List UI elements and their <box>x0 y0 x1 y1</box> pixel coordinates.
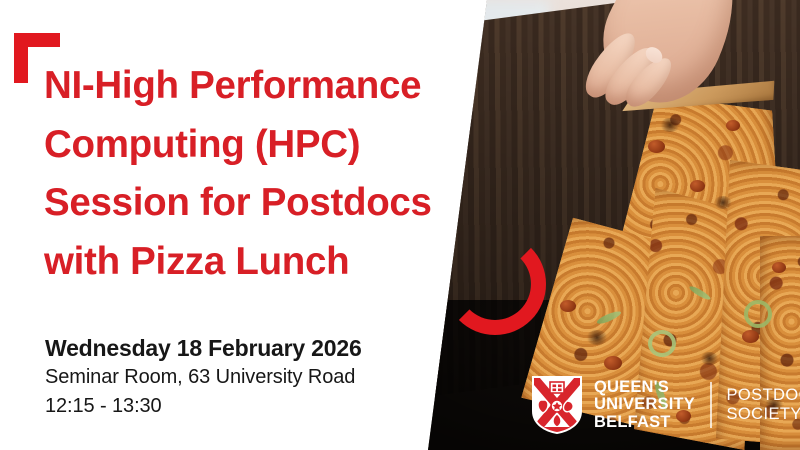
queens-crest-icon <box>531 375 583 435</box>
event-details: Wednesday 18 February 2026 Seminar Room,… <box>45 333 445 421</box>
pepperoni-topping <box>742 330 759 343</box>
charred-spot <box>660 118 680 132</box>
postdoc-society-wordmark: POSTDOC SOCIETY <box>727 386 800 425</box>
charred-spot <box>586 330 608 345</box>
pepperoni-topping <box>560 300 576 312</box>
university-line-1: QUEEN'S <box>594 379 695 397</box>
society-line-2: SOCIETY <box>727 405 800 425</box>
pepperoni-topping <box>648 140 665 153</box>
university-line-3: BELFAST <box>594 414 695 432</box>
university-line-2: UNIVERSITY <box>594 396 695 414</box>
university-wordmark: QUEEN'S UNIVERSITY BELFAST <box>594 379 695 432</box>
society-line-1: POSTDOC <box>727 386 800 406</box>
charred-spot <box>700 352 719 365</box>
event-date: Wednesday 18 February 2026 <box>45 333 445 363</box>
herb-topping <box>648 330 676 357</box>
red-quarter-arc-icon <box>444 233 546 335</box>
event-poster: NI-High Performance Computing (HPC) Sess… <box>0 0 800 450</box>
logo-divider <box>710 382 712 428</box>
pepperoni-topping <box>726 120 740 131</box>
logo-lockup: QUEEN'S UNIVERSITY BELFAST POSTDOC SOCIE… <box>531 374 800 436</box>
pepperoni-topping <box>604 356 622 370</box>
title-line-2: Computing (HPC) <box>44 116 514 175</box>
pepperoni-topping <box>772 262 786 273</box>
event-location: Seminar Room, 63 University Road <box>45 363 445 392</box>
event-time: 12:15 - 13:30 <box>45 392 445 421</box>
page-title: NI-High Performance Computing (HPC) Sess… <box>44 57 514 291</box>
title-line-3: Session for Postdocs <box>44 174 514 233</box>
herb-topping <box>744 300 772 328</box>
pepperoni-topping <box>690 180 705 192</box>
title-line-1: NI-High Performance <box>44 57 514 116</box>
charred-spot <box>714 196 732 209</box>
